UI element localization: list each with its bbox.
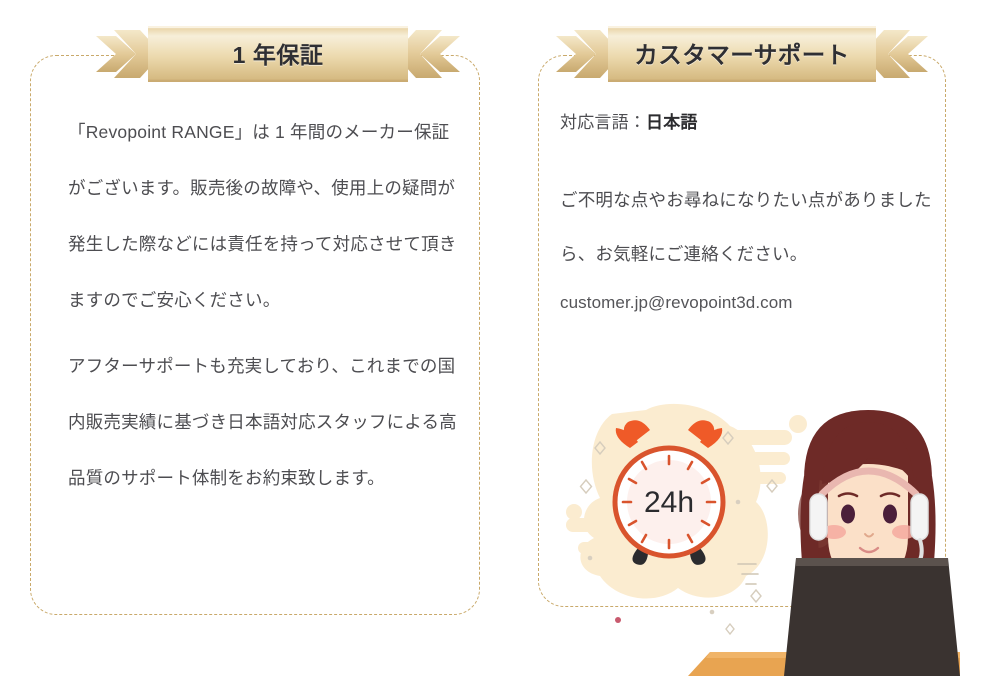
support-language-label: 対応言語： — [560, 113, 646, 132]
headset-earcup-right — [911, 494, 928, 540]
support-body-text: 対応言語：日本語 ご不明な点やお尋ねになりたい点がありましたら、お気軽にご連絡く… — [560, 108, 942, 313]
support-language-line: 対応言語：日本語 — [560, 108, 942, 133]
eye-right — [883, 505, 897, 524]
accent-dot — [615, 617, 621, 623]
laptop-screen — [784, 558, 960, 676]
warranty-body-text: 「Revopoint RANGE」は 1 年間のメーカー保証がございます。販売後… — [68, 104, 460, 506]
warranty-ribbon-title: 1 年保証 — [96, 22, 460, 86]
poster-stage: 1 年保証 「Revopoint RANGE」は 1 年間のメーカー保証がござい… — [0, 0, 1000, 676]
warranty-paragraph-2: アフターサポートも充実しており、これまでの国内販売実績に基づき日本語対応スタッフ… — [68, 338, 460, 506]
warranty-ribbon-banner: 1 年保証 — [96, 22, 460, 86]
support-illustration: 24h — [560, 352, 960, 676]
support-email: customer.jp@revopoint3d.com — [560, 293, 942, 313]
headset-earcup-left — [810, 494, 827, 540]
support-paragraph: ご不明な点やお尋ねになりたい点がありましたら、お気軽にご連絡ください。 — [560, 173, 942, 281]
support-language-value: 日本語 — [646, 113, 698, 132]
warranty-paragraph-1: 「Revopoint RANGE」は 1 年間のメーカー保証がございます。販売後… — [68, 104, 460, 328]
support-ribbon-banner: カスタマーサポート — [556, 22, 928, 86]
illustration-svg: 24h — [560, 352, 960, 676]
support-ribbon-title: カスタマーサポート — [556, 22, 928, 86]
clock-24h-label: 24h — [644, 486, 694, 519]
eye-left — [841, 505, 855, 524]
